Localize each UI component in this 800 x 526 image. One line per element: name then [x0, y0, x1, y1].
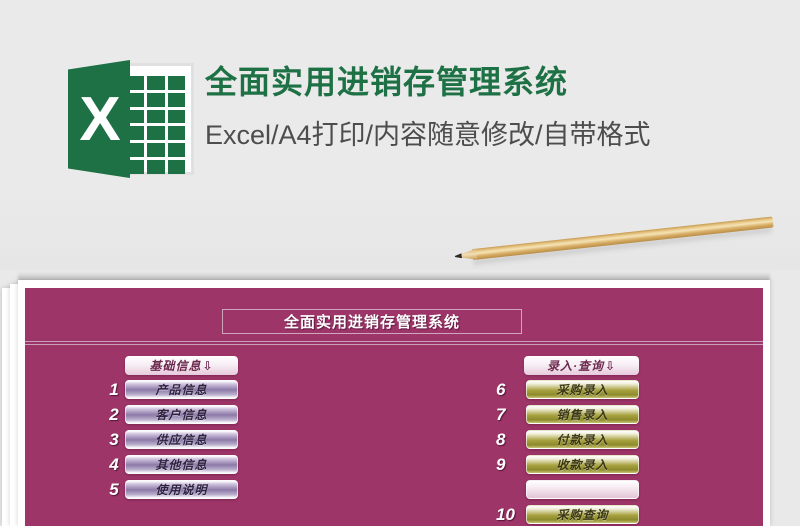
item-number: 8 — [494, 429, 526, 450]
menu-button-purchase-query[interactable]: 采购查询 — [526, 505, 639, 524]
title-rule-lower — [25, 344, 763, 345]
menu-button-label: 使用说明 — [155, 481, 207, 498]
menu-button-label: 销售录入 — [556, 406, 608, 423]
worksheet-title-text: 全面实用进销存管理系统 — [284, 311, 460, 332]
list-item: 8 付款录入 — [494, 429, 639, 450]
menu-button-receipt-entry[interactable]: 收款录入 — [526, 455, 639, 474]
list-item: 1 产品信息 — [103, 379, 238, 400]
spreadsheet-grid — [127, 76, 185, 174]
item-number: 9 — [494, 454, 526, 475]
list-item-spacer — [494, 479, 639, 500]
item-number: 10 — [494, 504, 526, 525]
menu-button-customer-info[interactable]: 客户信息 — [125, 405, 238, 424]
menu-button-label: 收款录入 — [556, 456, 608, 473]
banner-title: 全面实用进销存管理系统 — [205, 62, 780, 102]
column-header-basic-information[interactable]: 基础信息⇩ — [125, 356, 238, 375]
menu-button-supplier-info[interactable]: 供应信息 — [125, 430, 238, 449]
menu-button-label: 客户信息 — [155, 406, 207, 423]
menu-button-label: 采购录入 — [556, 381, 608, 398]
column-header-entry-query[interactable]: 录入·查询⇩ — [524, 356, 639, 375]
menu-button-label: 付款录入 — [556, 431, 608, 448]
item-number: 2 — [103, 404, 125, 425]
list-item: 5 使用说明 — [103, 479, 238, 500]
menu-button-other-info[interactable]: 其他信息 — [125, 455, 238, 474]
list-item: 3 供应信息 — [103, 429, 238, 450]
item-number: 6 — [494, 379, 526, 400]
list-item: 6 采购录入 — [494, 379, 639, 400]
worksheet-title-box: 全面实用进销存管理系统 — [222, 309, 522, 334]
column-header-label: 录入·查询 — [547, 359, 604, 373]
item-number: 7 — [494, 404, 526, 425]
menu-column-entry-query: 录入·查询⇩ 6 采购录入 7 销售录入 8 付款录入 9 收款录入 10 采购… — [494, 356, 639, 525]
list-item: 10 采购查询 — [494, 504, 639, 525]
menu-button-sales-entry[interactable]: 销售录入 — [526, 405, 639, 424]
chevron-down-icon: ⇩ — [605, 359, 616, 373]
banner-text-block: 全面实用进销存管理系统 Excel/A4打印/内容随意修改/自带格式 — [205, 62, 780, 152]
column-header-label: 基础信息 — [149, 359, 201, 373]
menu-button-label: 其他信息 — [155, 456, 207, 473]
excel-x-letter: X — [68, 60, 130, 178]
chevron-down-icon: ⇩ — [202, 359, 213, 373]
list-item: 4 其他信息 — [103, 454, 238, 475]
menu-button-instructions[interactable]: 使用说明 — [125, 480, 238, 499]
excel-file-icon: X — [68, 60, 194, 178]
title-rule-upper — [25, 341, 763, 342]
menu-button-label: 产品信息 — [155, 381, 207, 398]
banner-subtitle: Excel/A4打印/内容随意修改/自带格式 — [205, 118, 780, 152]
menu-button-payment-entry[interactable]: 付款录入 — [526, 430, 639, 449]
list-item: 9 收款录入 — [494, 454, 639, 475]
spreadsheet-sheet — [120, 63, 194, 175]
menu-button-purchase-entry[interactable]: 采购录入 — [526, 380, 639, 399]
list-item: 2 客户信息 — [103, 404, 238, 425]
item-number: 1 — [103, 379, 125, 400]
item-number: 3 — [103, 429, 125, 450]
item-number: 4 — [103, 454, 125, 475]
pencil-graphite-tip — [455, 253, 462, 259]
menu-button-product-info[interactable]: 产品信息 — [125, 380, 238, 399]
list-item: 7 销售录入 — [494, 404, 639, 425]
menu-button-label: 采购查询 — [556, 506, 608, 523]
menu-button-blank[interactable] — [526, 480, 639, 499]
item-number: 5 — [103, 479, 125, 500]
menu-button-label: 供应信息 — [155, 431, 207, 448]
menu-column-basic-information: 基础信息⇩ 1 产品信息 2 客户信息 3 供应信息 4 其他信息 5 使用说明 — [103, 356, 238, 500]
